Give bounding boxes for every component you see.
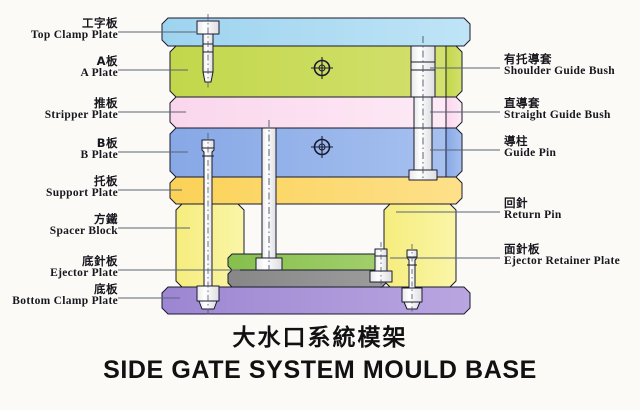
label-cn: 底板 — [0, 284, 118, 296]
label-en: Shoulder Guide Bush — [504, 66, 615, 78]
label-bottom-clamp-plate: 底板 Bottom Clamp Plate — [0, 284, 118, 307]
label-cn: 方鐵 — [0, 214, 118, 226]
label-ejector-retainer-plate: 面針板 Ejector Retainer Plate — [504, 244, 620, 267]
label-cn: 推板 — [0, 98, 118, 110]
label-cn: B板 — [0, 138, 118, 150]
label-guide-pin: 導柱 Guide Pin — [504, 136, 556, 159]
label-cn: A板 — [0, 56, 118, 68]
label-top-clamp-plate: 工字板 Top Clamp Plate — [0, 18, 118, 41]
label-en: Return Pin — [504, 210, 562, 222]
label-cn: 工字板 — [0, 18, 118, 30]
label-b-plate: B板 B Plate — [0, 138, 118, 161]
plate-ejector-retainer — [228, 254, 386, 270]
label-support-plate: 托板 Support Plate — [0, 176, 118, 199]
label-en: Stripper Plate — [0, 110, 118, 122]
label-a-plate: A板 A Plate — [0, 56, 118, 79]
spacer-block-right — [384, 204, 456, 287]
label-stripper-plate: 推板 Stripper Plate — [0, 98, 118, 121]
label-en: Ejector Plate — [0, 268, 118, 280]
diagram-canvas: 工字板 Top Clamp Plate A板 A Plate 推板 Stripp… — [0, 0, 640, 410]
label-en: Guide Pin — [504, 148, 556, 160]
label-en: Ejector Retainer Plate — [504, 256, 620, 268]
label-cn: 有托導套 — [504, 54, 615, 66]
title-en: SIDE GATE SYSTEM MOULD BASE — [0, 356, 640, 385]
title-cn: 大水口系統模架 — [0, 318, 640, 352]
label-straight-guide-bush: 直導套 Straight Guide Bush — [504, 98, 611, 121]
label-return-pin: 回針 Return Pin — [504, 198, 562, 221]
diagram-title: 大水口系統模架 SIDE GATE SYSTEM MOULD BASE — [0, 318, 640, 385]
label-en: Straight Guide Bush — [504, 110, 611, 122]
label-cn: 導柱 — [504, 136, 556, 148]
label-cn: 底針板 — [0, 256, 118, 268]
label-spacer-block: 方鐵 Spacer Block — [0, 214, 118, 237]
label-ejector-plate: 底針板 Ejector Plate — [0, 256, 118, 279]
label-shoulder-guide-bush: 有托導套 Shoulder Guide Bush — [504, 54, 615, 77]
plate-ejector — [228, 270, 386, 287]
label-cn: 托板 — [0, 176, 118, 188]
label-en: Support Plate — [0, 188, 118, 200]
plate-support — [170, 177, 462, 204]
label-cn: 直導套 — [504, 98, 611, 110]
label-en: Bottom Clamp Plate — [0, 296, 118, 308]
label-en: B Plate — [0, 150, 118, 162]
label-cn: 回針 — [504, 198, 562, 210]
label-en: Spacer Block — [0, 226, 118, 238]
label-en: Top Clamp Plate — [0, 30, 118, 42]
label-en: A Plate — [0, 68, 118, 80]
label-cn: 面針板 — [504, 244, 620, 256]
